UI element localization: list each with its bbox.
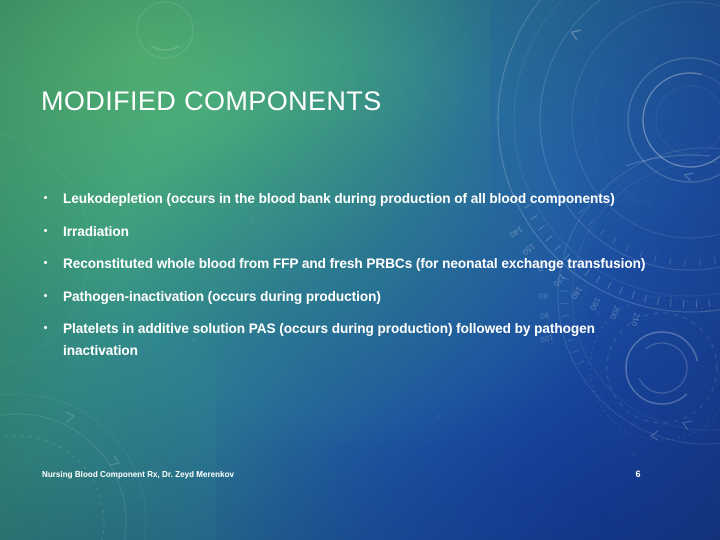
list-item-label: Leukodepletion (occurs in the blood bank… bbox=[63, 191, 615, 206]
bullet-dot-icon bbox=[44, 294, 47, 297]
list-item: Leukodepletion (occurs in the blood bank… bbox=[41, 188, 653, 210]
bullet-dot-icon bbox=[44, 326, 47, 329]
list-item-label: Reconstituted whole blood from FFP and f… bbox=[63, 256, 645, 271]
slide-page-number: 6 bbox=[628, 469, 648, 479]
list-item-label: Pathogen-inactivation (occurs during pro… bbox=[63, 289, 381, 304]
slide-body-list: Leukodepletion (occurs in the blood bank… bbox=[41, 188, 653, 361]
bullet-dot-icon bbox=[44, 196, 47, 199]
slide-footer: Nursing Blood Component Rx, Dr. Zeyd Mer… bbox=[42, 470, 234, 479]
list-item: Irradiation bbox=[41, 221, 653, 243]
bullet-dot-icon bbox=[44, 261, 47, 264]
list-item-label: Platelets in additive solution PAS (occu… bbox=[63, 321, 595, 358]
bullet-dot-icon bbox=[44, 229, 47, 232]
list-item: Platelets in additive solution PAS (occu… bbox=[41, 318, 653, 361]
slide: 210 200 190 180 170 160 150 140 bbox=[0, 0, 720, 540]
slide-title: MODIFIED COMPONENTS bbox=[41, 86, 661, 118]
list-item: Reconstituted whole blood from FFP and f… bbox=[41, 253, 653, 275]
list-item-label: Irradiation bbox=[63, 224, 129, 239]
list-item: Pathogen-inactivation (occurs during pro… bbox=[41, 286, 653, 308]
